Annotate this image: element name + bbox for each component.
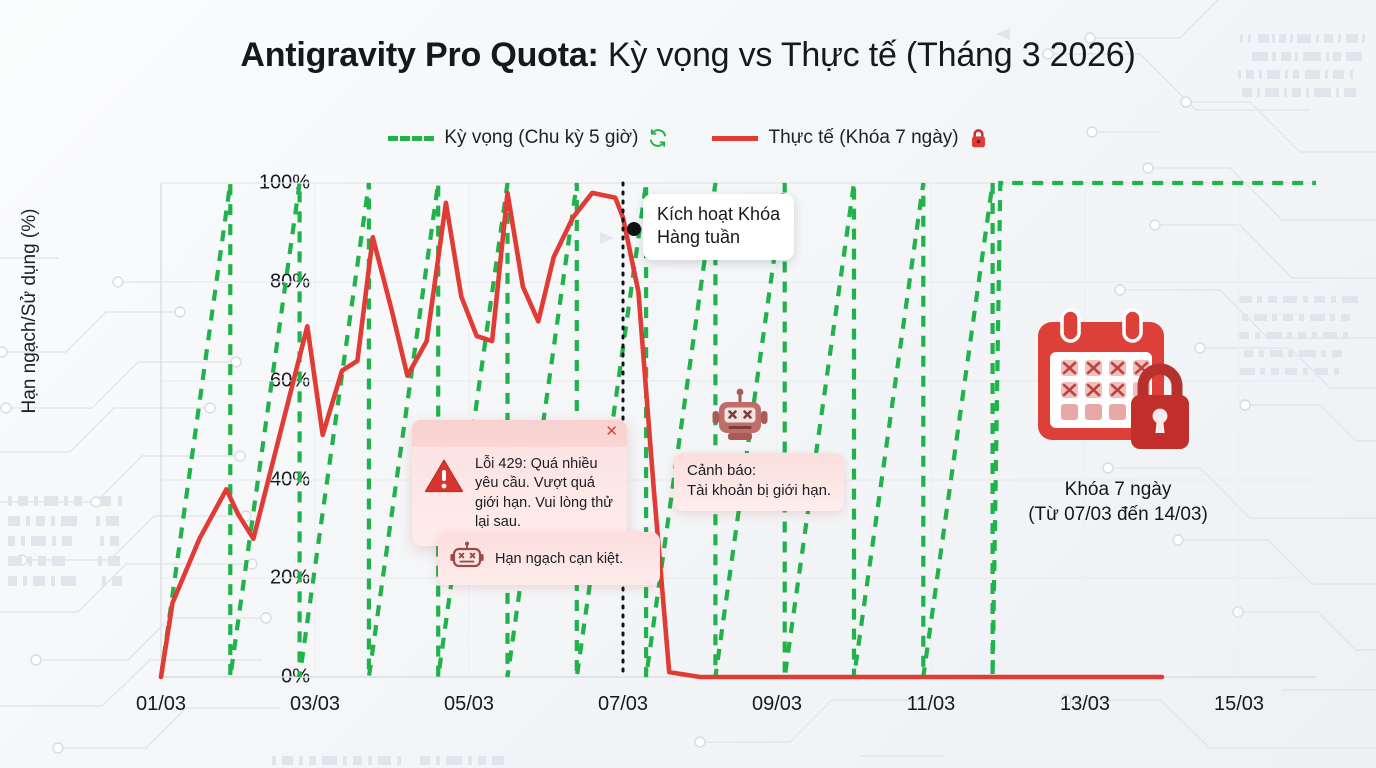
lock-activation-annotation: Kích hoạt Khóa Hàng tuần — [643, 194, 794, 260]
actual-series-line — [161, 193, 1162, 677]
error-dialog-titlebar: ✕ — [412, 420, 627, 447]
quota-exhausted-card: Hạn ngạch cạn kiệt. — [438, 532, 660, 585]
error-message-text: Lỗi 429: Quá nhiều yêu cầu. Vượt quá giớ… — [475, 455, 615, 533]
calendar-lock-graphic — [1030, 300, 1202, 477]
calendar-lock-caption: Khóa 7 ngày (Từ 07/03 đến 14/03) — [958, 478, 1278, 527]
robot-icon — [450, 541, 484, 576]
account-warning-card: Cảnh báo: Tài khoản bị giới hạn. — [674, 453, 844, 511]
close-icon[interactable]: ✕ — [605, 424, 618, 439]
quota-exhausted-text: Hạn ngạch cạn kiệt. — [495, 551, 623, 567]
error-429-dialog[interactable]: ✕ Lỗi 429: Quá nhiều yêu cầu. Vượt quá g… — [412, 420, 627, 546]
lock-activation-marker — [627, 222, 641, 236]
warning-triangle-icon — [424, 458, 464, 499]
warning-robot-icon — [712, 388, 768, 455]
